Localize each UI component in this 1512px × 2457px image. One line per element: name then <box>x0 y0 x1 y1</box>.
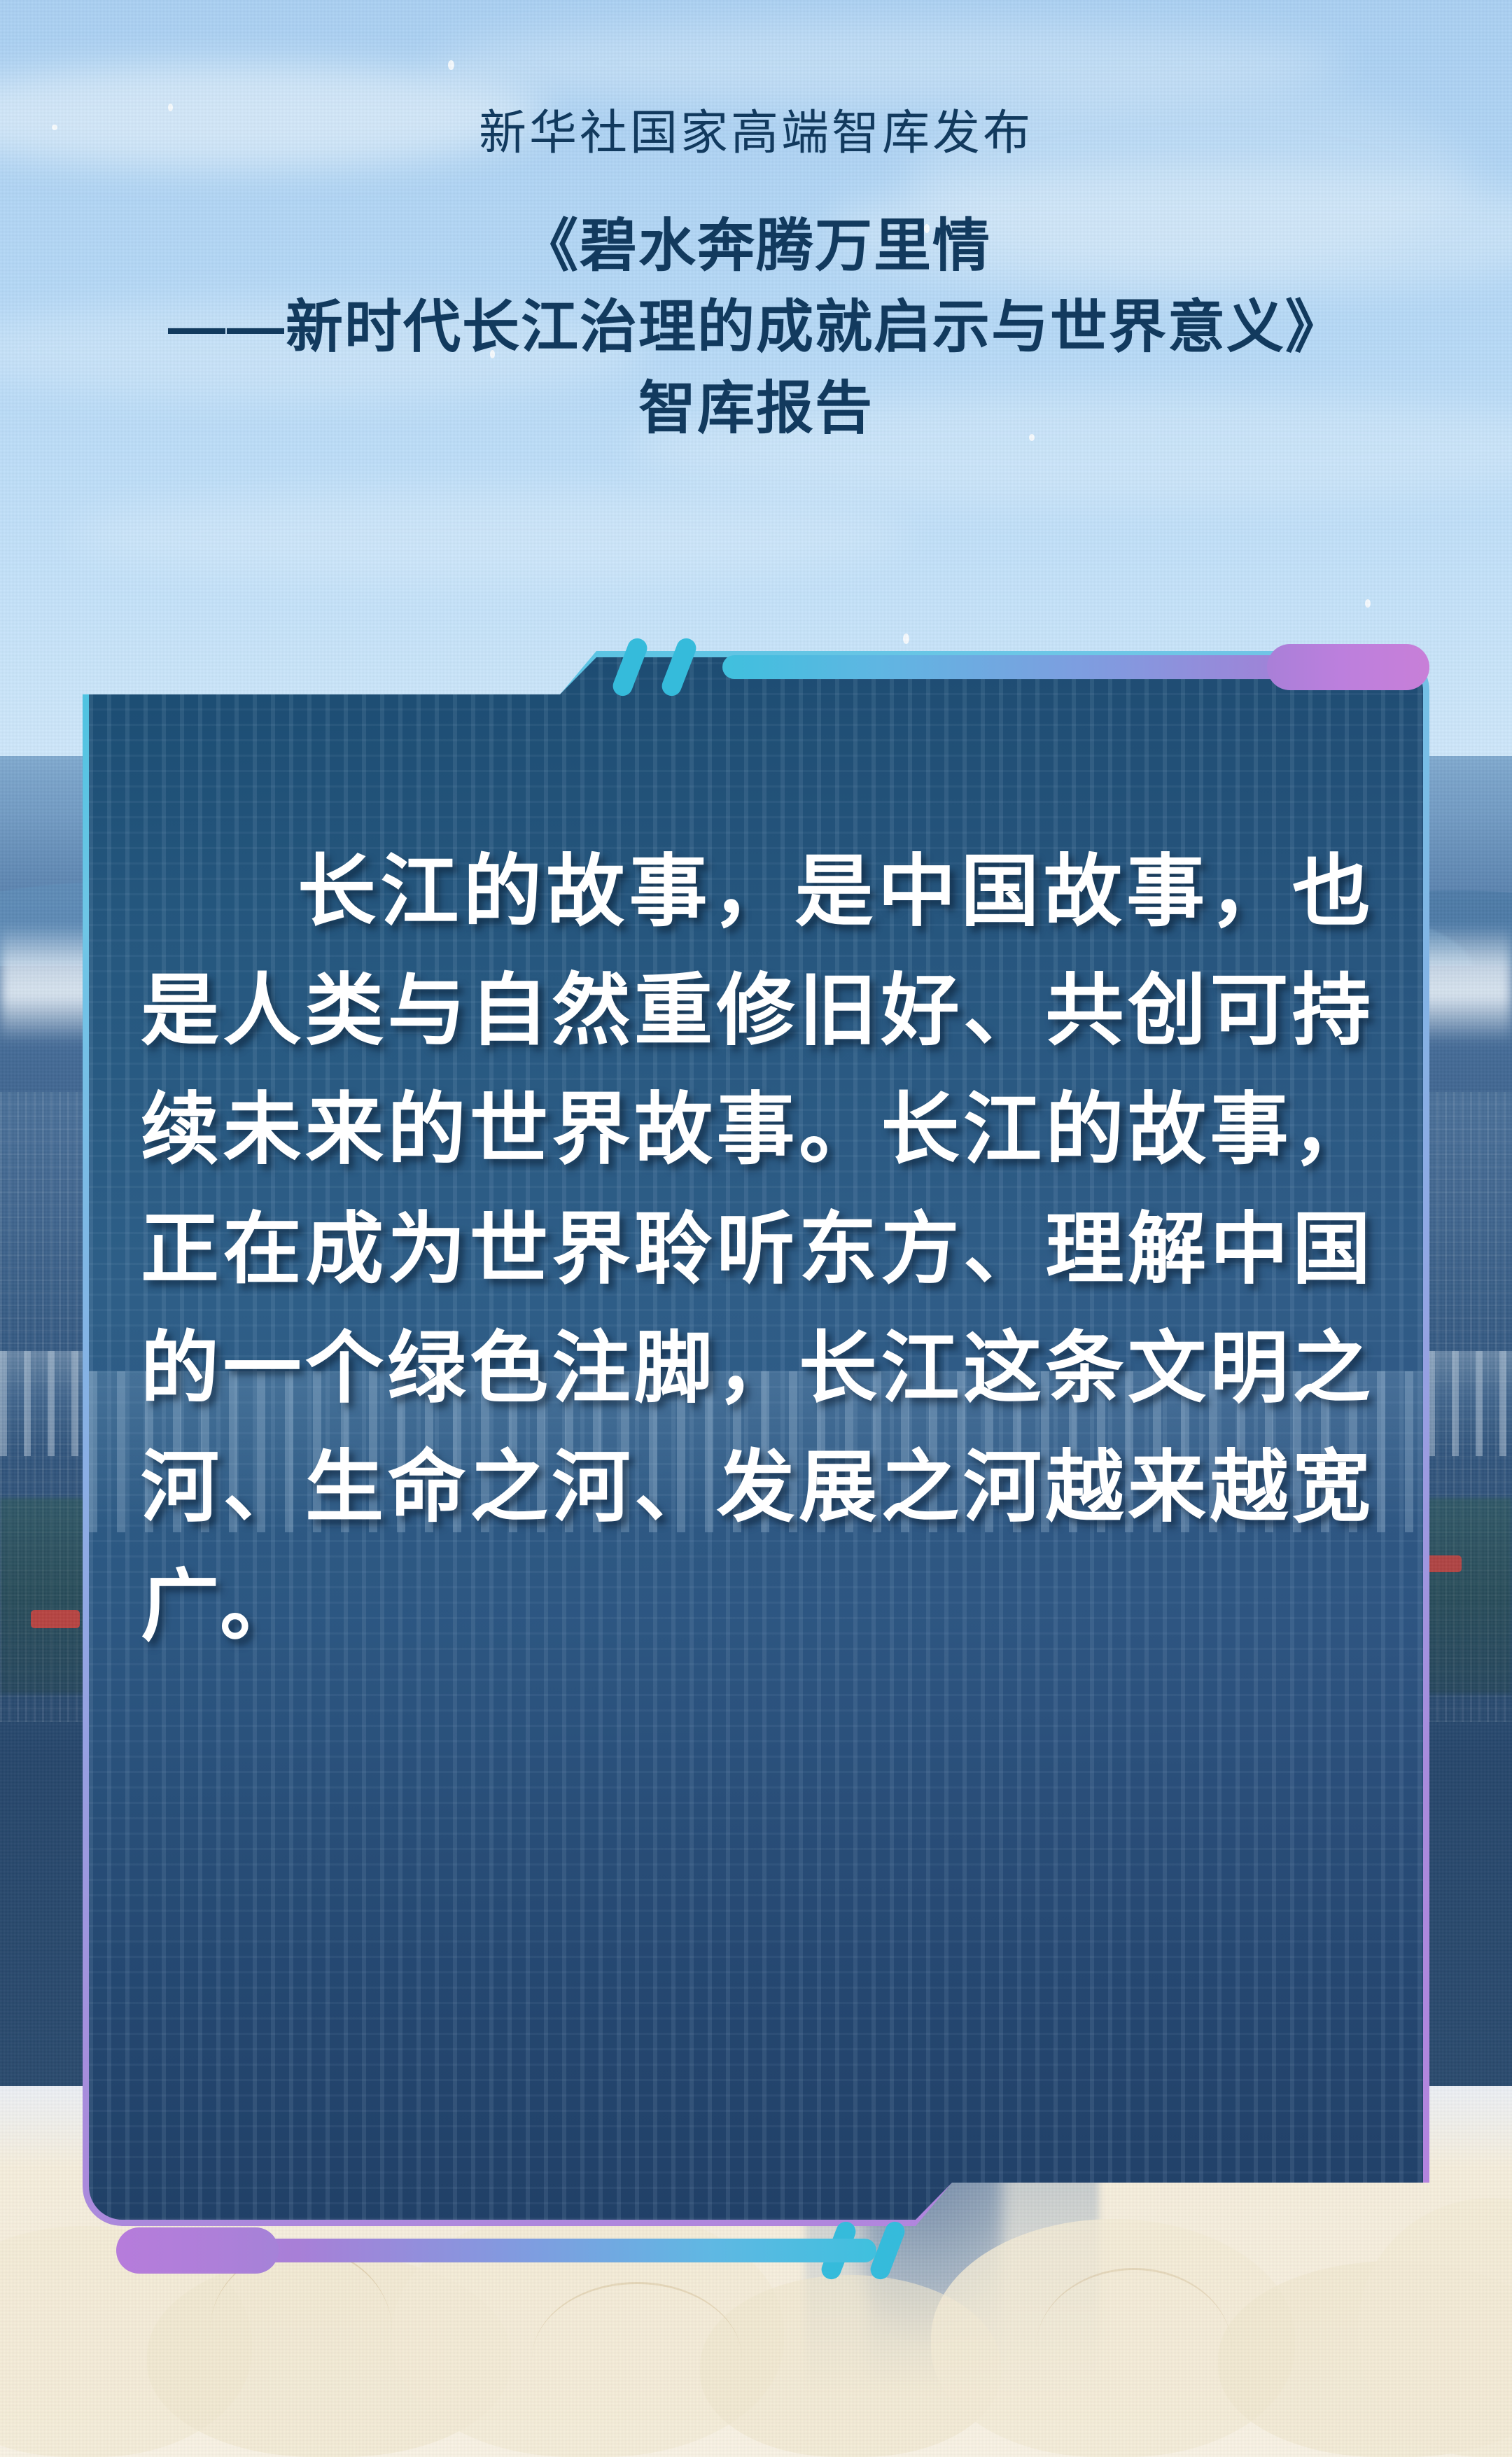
poster-canvas: 新华社国家高端智库发布 《碧水奔腾万里情 ——新时代长江治理的成就启示与世界意义… <box>0 0 1512 2457</box>
accent-bar-cap <box>116 2227 279 2274</box>
sky-speck <box>1365 599 1371 608</box>
quote-body-text: 长江的故事，是中国故事，也是人类与自然重修旧好、共创可持续未来的世界故事。长江的… <box>89 657 1423 2220</box>
title-line-2: ——新时代长江治理的成就启示与世界意义》 <box>0 287 1512 368</box>
quote-close-decoration <box>119 2212 945 2289</box>
quote-open-icon <box>659 636 699 699</box>
accent-bar-cap <box>1267 644 1429 690</box>
cloud-outline <box>1036 2268 1232 2429</box>
cloud-outline <box>532 2282 742 2436</box>
quote-open-icon <box>610 636 650 699</box>
quote-card-body: 长江的故事，是中国故事，也是人类与自然重修旧好、共创可持续未来的世界故事。长江的… <box>89 657 1423 2220</box>
cloud-wisp <box>70 490 910 581</box>
title-line-1: 《碧水奔腾万里情 <box>0 206 1512 287</box>
page-title: 《碧水奔腾万里情 ——新时代长江治理的成就启示与世界意义》 智库报告 <box>0 206 1512 450</box>
poster-header: 新华社国家高端智库发布 《碧水奔腾万里情 ——新时代长江治理的成就启示与世界意义… <box>0 0 1512 450</box>
red-vessel <box>31 1610 80 1628</box>
publisher-kicker: 新华社国家高端智库发布 <box>0 105 1512 162</box>
quote-open-decoration <box>616 630 1442 707</box>
quote-card: 长江的故事，是中国故事，也是人类与自然重修旧好、共创可持续未来的世界故事。长江的… <box>83 651 1429 2226</box>
title-line-3: 智库报告 <box>0 368 1512 449</box>
